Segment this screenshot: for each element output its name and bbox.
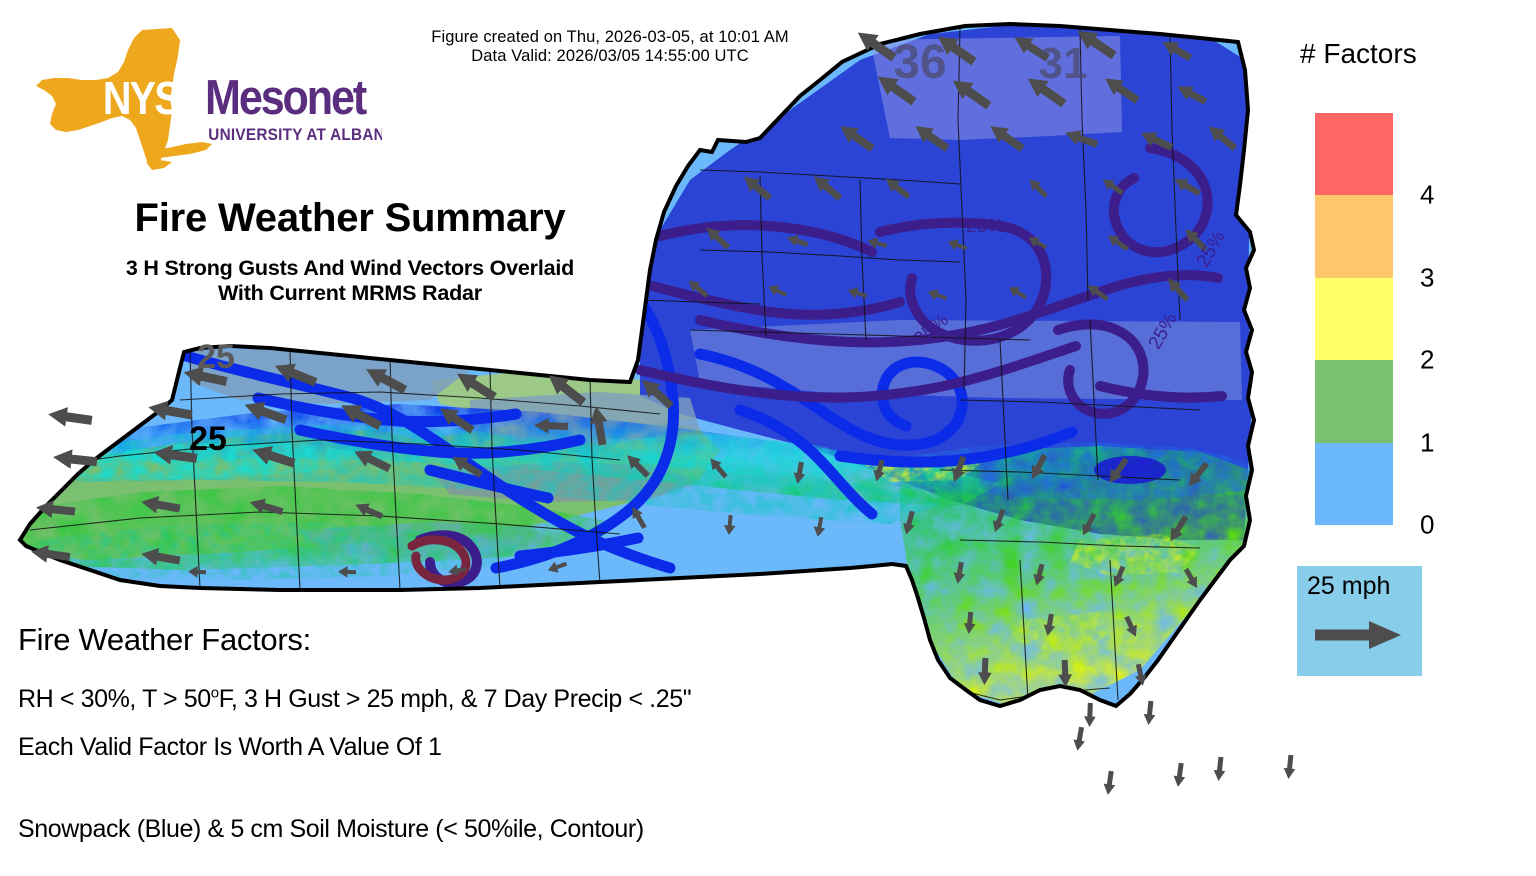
svg-text:31: 31 [1039, 39, 1088, 88]
wind-scale-label: 25 mph [1307, 572, 1390, 601]
degree-symbol: o [211, 685, 219, 702]
logo-university-text: UNIVERSITY AT ALBANY [208, 125, 382, 144]
subtitle-line-2: With Current MRMS Radar [10, 281, 690, 306]
subtitle-line-1: 3 H Strong Gusts And Wind Vectors Overla… [10, 256, 690, 281]
colorbar-tick-2: 2 [1420, 345, 1434, 376]
wind-scale-arrow-icon [1311, 618, 1406, 657]
factors-criteria: RH < 30%, T > 50oF, 3 H Gust > 25 mph, &… [18, 685, 691, 714]
colorbar-band-23 [1315, 278, 1393, 360]
logo-mesonet-text: Mesonet [205, 69, 367, 124]
svg-text:25: 25 [197, 338, 235, 376]
created-line: Figure created on Thu, 2026-03-05, at 10… [360, 28, 860, 47]
svg-text:25%: 25% [966, 216, 1004, 237]
factors-value-note: Each Valid Factor Is Worth A Value Of 1 [18, 733, 442, 762]
colorbar [1315, 113, 1393, 525]
colorbar-tick-4: 4 [1420, 180, 1434, 211]
criteria-post: F, 3 H Gust > 25 mph, & 7 Day Precip < .… [219, 685, 691, 713]
colorbar-band-4 [1315, 113, 1393, 195]
figure-timestamp: Figure created on Thu, 2026-03-05, at 10… [360, 28, 860, 66]
page-subtitle: 3 H Strong Gusts And Wind Vectors Overla… [10, 256, 690, 306]
nys-mesonet-logo: NYS Mesonet UNIVERSITY AT ALBANY [22, 22, 382, 172]
colorbar-ticks: 43210 [1420, 113, 1480, 525]
snowpack-note: Snowpack (Blue) & 5 cm Soil Moisture (< … [18, 815, 644, 844]
svg-text:25: 25 [189, 420, 227, 458]
wind-scale-legend: 25 mph [1297, 566, 1422, 676]
page-title: Fire Weather Summary [10, 196, 690, 241]
colorbar-band-34 [1315, 195, 1393, 277]
logo-nys-text: NYS [103, 73, 179, 124]
colorbar-band-01 [1315, 443, 1393, 525]
legend-title: # Factors [1300, 38, 1417, 70]
colorbar-band-12 [1315, 360, 1393, 442]
colorbar-tick-1: 1 [1420, 427, 1434, 458]
valid-line: Data Valid: 2026/03/05 14:55:00 UTC [360, 47, 860, 66]
factors-heading: Fire Weather Factors: [18, 622, 311, 658]
criteria-pre: RH < 30%, T > 50 [18, 685, 211, 713]
svg-text:36: 36 [893, 36, 946, 89]
colorbar-tick-3: 3 [1420, 262, 1434, 293]
colorbar-tick-0: 0 [1420, 510, 1434, 541]
